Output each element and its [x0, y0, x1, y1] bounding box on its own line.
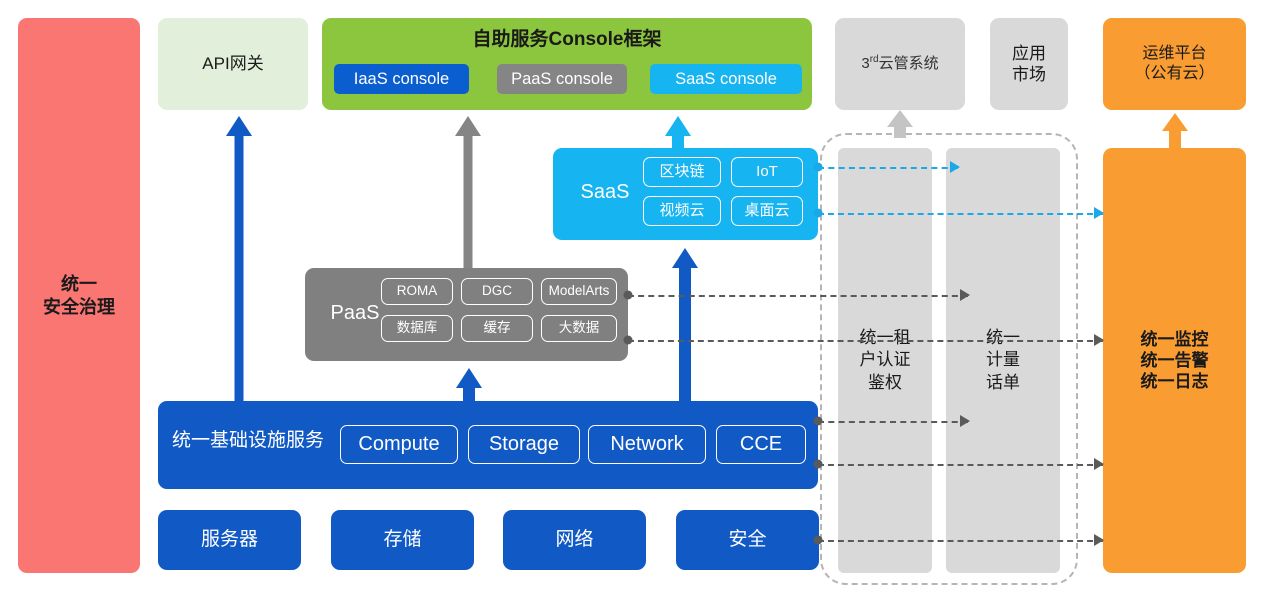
unified-metering-billing-column[interactable]: 统一 计量 话单 — [946, 148, 1060, 573]
paas-item-database[interactable]: 数据库 — [381, 315, 453, 342]
third-cloud-superscript: rd — [870, 54, 879, 65]
hardware-item-security[interactable]: 安全 — [676, 510, 819, 570]
paas-layer-box[interactable]: PaaS ROMA DGC ModelArts 数据库 缓存 大数据 — [305, 268, 628, 361]
arrow-infra-to-paas — [456, 368, 482, 401]
arrow-paas-to-paas-console — [455, 116, 481, 268]
paas-item-cache[interactable]: 缓存 — [461, 315, 533, 342]
arrowhead-paas-row1 — [960, 289, 970, 301]
saas-item-video-cloud[interactable]: 视频云 — [643, 196, 721, 226]
ops-platform-box[interactable]: 运维平台 （公有云） — [1103, 18, 1246, 110]
arrowhead-hardware — [1094, 534, 1104, 546]
arrow-infra-to-saas — [672, 248, 698, 401]
connector-paas-to-ops — [628, 340, 1103, 342]
ops-monitor-line-2: 统一告警 — [1141, 350, 1209, 371]
paas-item-bigdata[interactable]: 大数据 — [541, 315, 617, 342]
arrowhead-saas-row1 — [950, 161, 960, 173]
api-gateway-label: API网关 — [202, 53, 263, 74]
infra-label: 统一基础设施服务 — [172, 429, 324, 453]
saas-item-desktop-cloud[interactable]: 桌面云 — [731, 196, 803, 226]
connector-saas-to-metering-row1 — [818, 167, 958, 169]
arrow-ops-monitor-to-ops-platform — [1162, 113, 1188, 148]
saas-console-chip[interactable]: SaaS console — [650, 64, 802, 94]
unified-tenant-auth-column[interactable]: 统一租 户认证 鉴权 — [838, 148, 932, 573]
saas-item-iot[interactable]: IoT — [731, 157, 803, 187]
ops-monitor-line-3: 统一日志 — [1141, 371, 1209, 392]
infra-item-network[interactable]: Network — [588, 425, 706, 464]
infra-item-compute[interactable]: Compute — [340, 425, 458, 464]
arrow-saas-to-saas-console — [665, 116, 691, 148]
arrow-shared-to-third-cloud — [887, 110, 913, 138]
paas-item-dgc[interactable]: DGC — [461, 278, 533, 305]
unified-infrastructure-service-bar[interactable]: 统一基础设施服务 Compute Storage Network CCE — [158, 401, 818, 489]
tenant-auth-line-1: 统一租 — [860, 327, 911, 349]
unified-security-governance-panel[interactable]: 统一 安全治理 — [18, 18, 140, 573]
infra-item-cce[interactable]: CCE — [716, 425, 806, 464]
ops-monitoring-panel[interactable]: 统一监控 统一告警 统一日志 — [1103, 148, 1246, 573]
governance-line-2: 安全治理 — [43, 296, 115, 319]
saas-layer-box[interactable]: SaaS 区块链 IoT 视频云 桌面云 — [553, 148, 818, 240]
metering-line-3: 话单 — [986, 372, 1020, 394]
arrowhead-saas-row2 — [1094, 207, 1104, 219]
metering-line-1: 统一 — [986, 327, 1020, 349]
paas-item-modelarts[interactable]: ModelArts — [541, 278, 617, 305]
hardware-item-network[interactable]: 网络 — [503, 510, 646, 570]
app-market-line-1: 应用 — [1012, 43, 1046, 64]
metering-line-2: 计量 — [986, 349, 1020, 371]
connector-hardware-to-ops — [818, 540, 1103, 542]
connector-infra-to-auth — [818, 421, 968, 423]
console-frame-title: 自助服务Console框架 — [322, 28, 812, 52]
app-market-line-2: 市场 — [1012, 64, 1046, 85]
arrowhead-infra-row2 — [1094, 458, 1104, 470]
application-market-box[interactable]: 应用 市场 — [990, 18, 1068, 110]
paas-console-chip[interactable]: PaaS console — [497, 64, 627, 94]
governance-line-1: 统一 — [43, 273, 115, 296]
ops-platform-line-1: 运维平台 — [1134, 44, 1214, 64]
self-service-console-frame[interactable]: 自助服务Console框架 IaaS console PaaS console … — [322, 18, 812, 110]
ops-platform-line-2: （公有云） — [1134, 64, 1214, 84]
iaas-console-chip[interactable]: IaaS console — [334, 64, 469, 94]
ops-monitor-line-1: 统一监控 — [1141, 329, 1209, 350]
hardware-item-storage[interactable]: 存储 — [331, 510, 474, 570]
connector-saas-to-ops-row2 — [818, 213, 1103, 215]
arrowhead-paas-row2 — [1094, 334, 1104, 346]
third-cloud-label: 3rd云管系统 — [861, 54, 938, 74]
infra-item-storage[interactable]: Storage — [468, 425, 580, 464]
third-party-cloud-management-box[interactable]: 3rd云管系统 — [835, 18, 965, 110]
arrow-infra-to-api-gateway — [226, 116, 252, 401]
tenant-auth-line-3: 鉴权 — [860, 372, 911, 394]
hardware-item-server[interactable]: 服务器 — [158, 510, 301, 570]
connector-paas-to-auth — [628, 295, 968, 297]
paas-item-roma[interactable]: ROMA — [381, 278, 453, 305]
saas-layer-label: SaaS — [565, 180, 645, 205]
api-gateway-box[interactable]: API网关 — [158, 18, 308, 110]
arrowhead-infra-row1 — [960, 415, 970, 427]
connector-infra-to-ops — [818, 464, 1103, 466]
saas-item-blockchain[interactable]: 区块链 — [643, 157, 721, 187]
tenant-auth-line-2: 户认证 — [860, 349, 911, 371]
architecture-diagram: 统一 安全治理 API网关 自助服务Console框架 IaaS console… — [0, 0, 1265, 605]
